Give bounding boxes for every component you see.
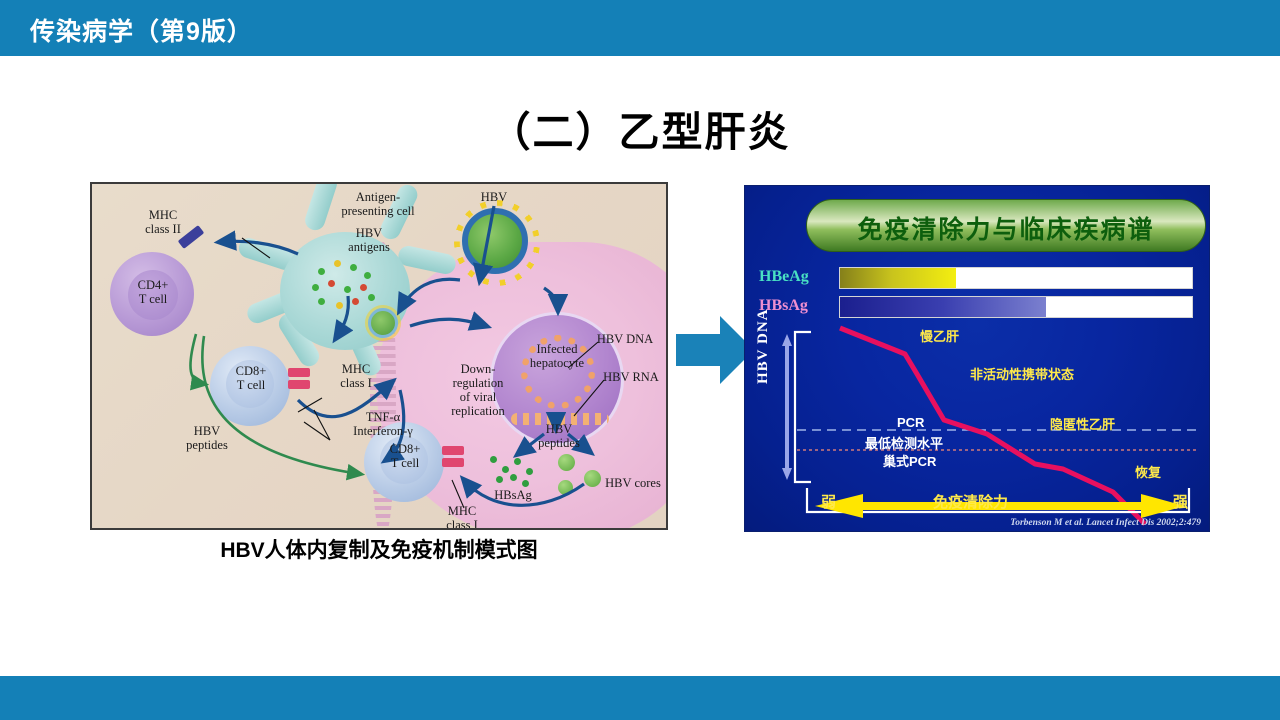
immune-clearance-chart: 免疫清除力与临床疾病谱 HBeAg HBsAg [744, 185, 1210, 532]
label-hbv-peptides-right: HBV peptides [524, 422, 594, 450]
label-mhc-class-i-lower: MHC class I [432, 504, 492, 530]
flow-arrow-icon [676, 312, 754, 388]
label-cd8-t-cell-lower: CD8+ T cell [370, 442, 440, 470]
left-figure-caption: HBV人体内复制及免疫机制模式图 [90, 534, 668, 564]
x-axis-right-label: 强 [1173, 491, 1188, 512]
label-cytokines: TNF-α Interferon-γ [336, 410, 430, 438]
label-infected-hepatocyte: Infected hepatocyte [514, 342, 600, 370]
threshold-label-detection-limit: 最低检测水平 [865, 433, 943, 452]
book-title: 传染病学（第9版） [30, 12, 253, 48]
stage-label-inactive-carrier: 非活动性携带状态 [970, 364, 1074, 383]
label-hbv-dna: HBV DNA [590, 332, 660, 346]
label-cd8-t-cell-upper: CD8+ T cell [216, 364, 286, 392]
label-mhc-class-i-upper: MHC class I [326, 362, 386, 390]
label-hbv-peptides-left: HBV peptides [168, 424, 246, 452]
label-antigen-presenting-cell: Antigen- presenting cell [310, 190, 446, 218]
label-hbv: HBV [464, 190, 524, 204]
slide-title: （二）乙型肝炎 [0, 98, 1280, 158]
chart-citation: Torbenson M et al. Lancet Infect Dis 200… [1010, 518, 1201, 528]
label-hbv-rna: HBV RNA [596, 370, 666, 384]
label-mhc-class-ii: MHC class II [128, 208, 198, 236]
label-hbsag: HBsAg [484, 488, 542, 502]
label-cd4-t-cell: CD4+ T cell [118, 278, 188, 306]
threshold-label-nested-pcr: 巢式PCR [883, 451, 936, 470]
footer-bar [0, 676, 1280, 720]
header-bar: 传染病学（第9版） [0, 0, 1280, 56]
label-downregulation: Down- regulation of viral replication [440, 362, 516, 418]
stage-label-recovery: 恢复 [1135, 462, 1161, 481]
label-hbv-cores: HBV cores [596, 476, 668, 490]
hbv-replication-diagram: Antigen- presenting cell HBV antigens MH… [90, 182, 668, 530]
stage-label-occult-hep-b: 隐匿性乙肝 [1050, 414, 1115, 433]
threshold-label-pcr: PCR [897, 415, 924, 430]
label-hbv-antigens: HBV antigens [330, 226, 408, 254]
x-axis-left-label: 弱 [821, 491, 836, 512]
x-axis-label: 免疫清除力 [933, 491, 1008, 512]
y-axis-label: HBV DNA [755, 309, 772, 384]
stage-label-chronic-hep-b: 慢乙肝 [920, 326, 959, 345]
